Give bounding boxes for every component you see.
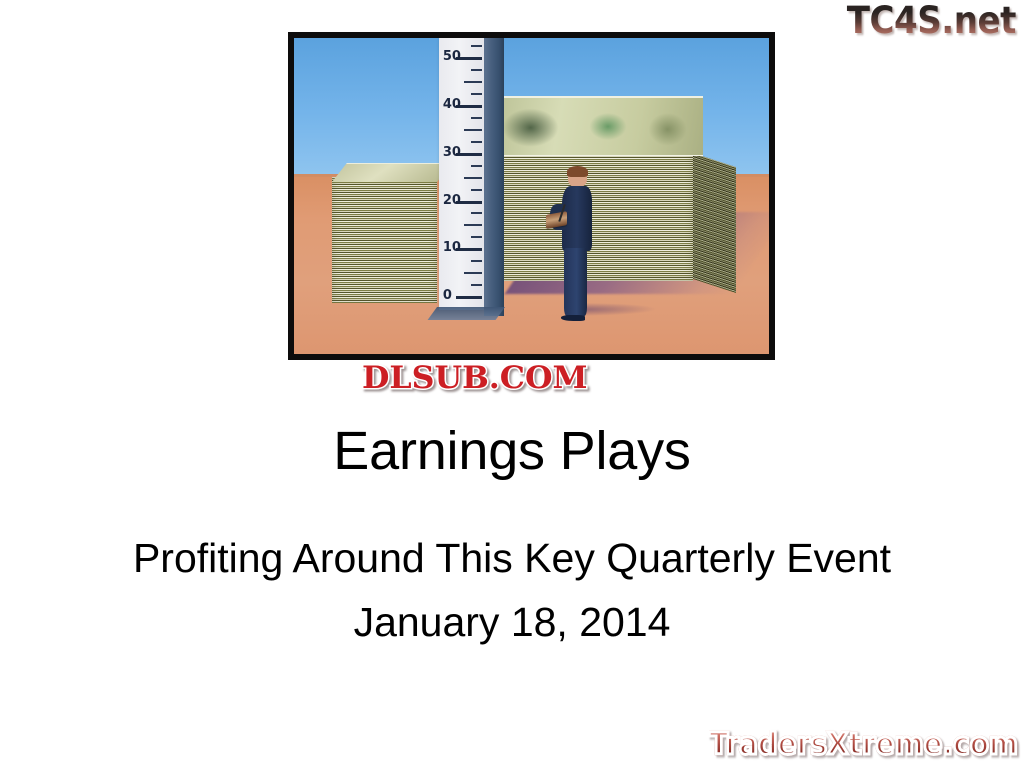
watermark-tradersxtreme: TradersXtreme.com xyxy=(709,730,1018,760)
ruler-tick xyxy=(471,45,483,47)
slide-date: January 18, 2014 xyxy=(0,602,1024,643)
watermark-tc4s: TC4S.net xyxy=(847,2,1016,39)
ruler-tick xyxy=(471,69,483,71)
ruler-tick-marks: 50403020100 xyxy=(439,38,485,310)
ruler-tick-label: 50 xyxy=(443,49,461,64)
money-stack-left xyxy=(332,177,437,303)
ruler-base xyxy=(428,307,506,320)
page-title: Earnings Plays xyxy=(0,423,1024,480)
ruler-tick xyxy=(471,117,483,119)
businessman-figure xyxy=(558,168,598,320)
ruler-tick xyxy=(456,57,482,60)
ruler-tick xyxy=(464,81,482,83)
ruler-tick xyxy=(471,165,483,167)
watermark-dlsub: DLSUB.COM xyxy=(362,363,588,394)
ruler-tick xyxy=(456,105,482,108)
ruler-tick xyxy=(456,201,482,204)
ruler-tick-label: 30 xyxy=(443,145,461,160)
ruler-tick xyxy=(464,177,482,179)
businessman-shoe xyxy=(561,315,585,321)
ruler-tick xyxy=(456,296,482,299)
giant-ruler: 50403020100 xyxy=(439,38,485,310)
ruler-tick xyxy=(456,153,482,156)
ruler-tick xyxy=(471,141,483,143)
illustration-frame: 50403020100 xyxy=(288,32,775,360)
ruler-tick xyxy=(464,272,482,274)
ruler-tick xyxy=(464,129,482,131)
businessman-legs xyxy=(564,248,587,316)
ruler-tick xyxy=(464,224,482,226)
ruler-tick-label: 40 xyxy=(443,97,461,112)
money-stack-large-side-face xyxy=(693,153,736,293)
businessman-hair xyxy=(567,166,589,177)
ruler-tick xyxy=(471,236,483,238)
ruler-tick-label: 10 xyxy=(443,241,461,256)
money-stack-left-top-face xyxy=(332,163,451,182)
ruler-tick xyxy=(471,260,483,262)
ruler-tick xyxy=(456,248,482,251)
ruler-tick-label: 20 xyxy=(443,193,461,208)
ruler-tick xyxy=(471,189,483,191)
ruler-tick xyxy=(471,212,483,214)
ruler-side-face xyxy=(484,38,504,316)
slide-subtitle: Profiting Around This Key Quarterly Even… xyxy=(0,538,1024,579)
ruler-tick-label: 0 xyxy=(443,288,452,303)
illustration-canvas: 50403020100 xyxy=(294,38,769,354)
ruler-tick xyxy=(471,93,483,95)
dollar-bill-top-face xyxy=(482,96,703,155)
ruler-tick xyxy=(471,284,483,286)
